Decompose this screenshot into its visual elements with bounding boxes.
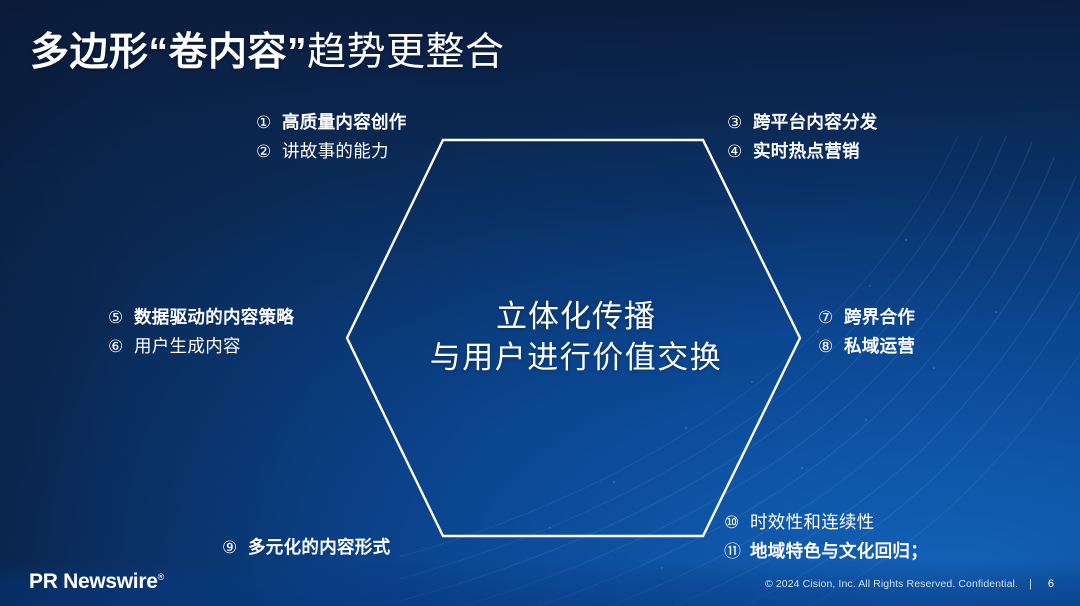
label-item-10: ⑩ 时效性和连续性 [724, 508, 928, 537]
label-group-middle-left: ⑤ 数据驱动的内容策略 ⑥ 用户生成内容 [108, 303, 294, 360]
label-number-9: ⑨ [222, 534, 248, 562]
label-item-8: ⑧ 私域运营 [818, 332, 915, 361]
center-text-line-1: 立体化传播 [396, 296, 756, 337]
label-number-6: ⑥ [108, 333, 134, 361]
label-item-5: ⑤ 数据驱动的内容策略 [108, 303, 294, 332]
logo-text: PR Newswire [29, 570, 158, 593]
label-number-11: ⑪ [724, 538, 750, 566]
slide-title-regular: 趋势更整合 [307, 31, 505, 74]
label-text-7: 跨界合作 [844, 303, 915, 331]
label-text-6: 用户生成内容 [134, 332, 241, 360]
label-text-4: 实时热点营销 [753, 137, 860, 165]
label-text-9: 多元化的内容形式 [248, 533, 390, 561]
label-item-3: ③ 跨平台内容分发 [727, 108, 878, 137]
label-group-bottom-right: ⑩ 时效性和连续性 ⑪ 地域特色与文化回归； [724, 508, 928, 565]
label-item-4: ④ 实时热点营销 [727, 137, 878, 166]
label-text-5: 数据驱动的内容策略 [134, 303, 294, 331]
slide-title: 多边形“卷内容”趋势更整合 [30, 32, 505, 75]
slide-title-bold: 多边形“卷内容” [30, 31, 307, 74]
label-text-3: 跨平台内容分发 [753, 108, 878, 136]
label-text-1: 高质量内容创作 [282, 108, 407, 136]
label-number-7: ⑦ [818, 304, 844, 332]
label-group-top-left: ① 高质量内容创作 ② 讲故事的能力 [256, 108, 407, 165]
label-item-2: ② 讲故事的能力 [256, 137, 407, 166]
presentation-slide: 多边形“卷内容”趋势更整合 立体化传播 与用户进行价值交换 ① 高质量内容创作 … [0, 0, 1080, 606]
label-number-5: ⑤ [108, 304, 134, 332]
label-group-middle-right: ⑦ 跨界合作 ⑧ 私域运营 [818, 303, 915, 360]
label-number-2: ② [256, 138, 282, 166]
label-group-bottom-left: ⑨ 多元化的内容形式 [222, 533, 390, 562]
label-text-11: 地域特色与文化回归； [750, 537, 928, 565]
pr-newswire-logo: PR Newswire® [29, 570, 164, 594]
label-group-top-right: ③ 跨平台内容分发 ④ 实时热点营销 [727, 108, 878, 165]
center-text-line-2: 与用户进行价值交换 [396, 337, 756, 378]
label-item-7: ⑦ 跨界合作 [818, 303, 915, 332]
label-text-10: 时效性和连续性 [750, 508, 875, 536]
label-number-4: ④ [727, 138, 753, 166]
label-text-8: 私域运营 [844, 332, 915, 360]
copyright-notice: © 2024 Cision, Inc. All Rights Reserved.… [765, 578, 1018, 590]
label-item-11: ⑪ 地域特色与文化回归； [724, 537, 928, 566]
hexagon-center-text: 立体化传播 与用户进行价值交换 [396, 296, 756, 378]
page-number: 6 [1048, 578, 1054, 590]
label-text-2: 讲故事的能力 [282, 137, 389, 165]
label-item-1: ① 高质量内容创作 [256, 108, 407, 137]
label-item-6: ⑥ 用户生成内容 [108, 332, 294, 361]
label-number-10: ⑩ [724, 509, 750, 537]
label-number-3: ③ [727, 109, 753, 137]
label-number-1: ① [256, 109, 282, 137]
label-item-9: ⑨ 多元化的内容形式 [222, 533, 390, 562]
label-number-8: ⑧ [818, 333, 844, 361]
footer-divider: | [1029, 578, 1032, 590]
registered-trademark-icon: ® [158, 572, 164, 582]
